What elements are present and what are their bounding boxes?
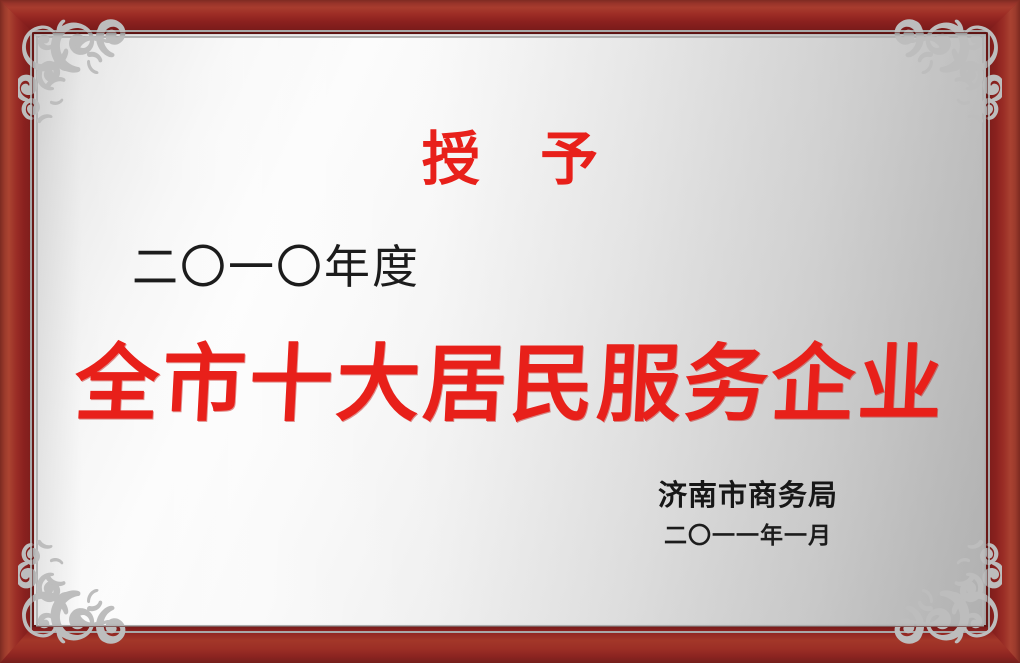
- award-verb-text: 授 予: [34, 130, 986, 188]
- award-year-text: 二〇一〇年度: [132, 244, 420, 290]
- frame-top-bar: [0, 0, 1020, 34]
- signature-block: 济南市商务局 二〇一一年一月: [628, 477, 868, 551]
- award-title-text: 全市十大居民服务企业: [32, 338, 989, 430]
- issue-date-text: 二〇一一年一月: [628, 523, 868, 551]
- certificate-content: 授 予 二〇一〇年度 全市十大居民服务企业 济南市商务局 二〇一一年一月: [34, 34, 986, 625]
- issuing-organization-text: 济南市商务局: [628, 477, 868, 513]
- award-plaque: 授 予 二〇一〇年度 全市十大居民服务企业 济南市商务局 二〇一一年一月: [0, 0, 1020, 663]
